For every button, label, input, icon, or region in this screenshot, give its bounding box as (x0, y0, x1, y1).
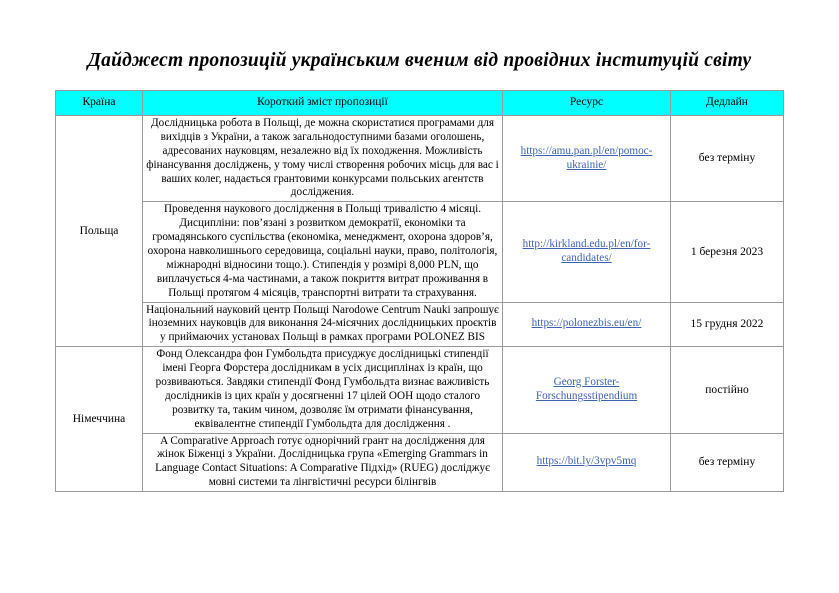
resource-link[interactable]: https://amu.pan.pl/en/pomoc-ukrainie/ (521, 145, 653, 171)
resource-link[interactable]: https://polonezbis.eu/en/ (532, 317, 642, 329)
deadline-cell: без терміну (671, 116, 784, 202)
table-row: Проведення наукового дослідження в Польщ… (56, 202, 784, 302)
table-header: Країна Короткий зміст пропозиції Ресурс … (56, 91, 784, 116)
deadline-cell: 15 грудня 2022 (671, 302, 784, 347)
resource-cell: http://kirkland.edu.pl/en/for-candidates… (503, 202, 671, 302)
table-row: Національний науковий центр Польщі Narod… (56, 302, 784, 347)
table-row: A Comparative Approach готує однорічний … (56, 433, 784, 492)
table-header-row: Країна Короткий зміст пропозиції Ресурс … (56, 91, 784, 116)
document-page: Дайджест пропозицій українським вченим в… (0, 0, 839, 593)
resource-cell: Georg Forster-Forschungsstipendium (503, 347, 671, 433)
resource-cell: https://bit.ly/3vpv5mq (503, 433, 671, 492)
column-header-deadline: Дедлайн (671, 91, 784, 116)
digest-table-container: Країна Короткий зміст пропозиції Ресурс … (55, 90, 783, 492)
deadline-cell: без терміну (671, 433, 784, 492)
resource-cell: https://polonezbis.eu/en/ (503, 302, 671, 347)
digest-table: Країна Короткий зміст пропозиції Ресурс … (55, 90, 784, 492)
resource-link[interactable]: Georg Forster-Forschungsstipendium (536, 376, 637, 402)
summary-cell: A Comparative Approach готує однорічний … (143, 433, 503, 492)
deadline-cell: постійно (671, 347, 784, 433)
country-cell: Німеччина (56, 347, 143, 492)
summary-cell: Дослідницька робота в Польщі, де можна с… (143, 116, 503, 202)
table-body: Польща Дослідницька робота в Польщі, де … (56, 116, 784, 492)
resource-link[interactable]: http://kirkland.edu.pl/en/for-candidates… (523, 238, 651, 264)
summary-cell: Фонд Олександра фон Гумбольдта присуджує… (143, 347, 503, 433)
summary-cell: Національний науковий центр Польщі Narod… (143, 302, 503, 347)
resource-cell: https://amu.pan.pl/en/pomoc-ukrainie/ (503, 116, 671, 202)
column-header-country: Країна (56, 91, 143, 116)
resource-link[interactable]: https://bit.ly/3vpv5mq (537, 455, 637, 467)
page-title: Дайджест пропозицій українським вченим в… (0, 50, 839, 72)
table-row: Німеччина Фонд Олександра фон Гумбольдта… (56, 347, 784, 433)
table-row: Польща Дослідницька робота в Польщі, де … (56, 116, 784, 202)
column-header-summary: Короткий зміст пропозиції (143, 91, 503, 116)
column-header-resource: Ресурс (503, 91, 671, 116)
summary-cell: Проведення наукового дослідження в Польщ… (143, 202, 503, 302)
deadline-cell: 1 березня 2023 (671, 202, 784, 302)
country-cell: Польща (56, 116, 143, 347)
